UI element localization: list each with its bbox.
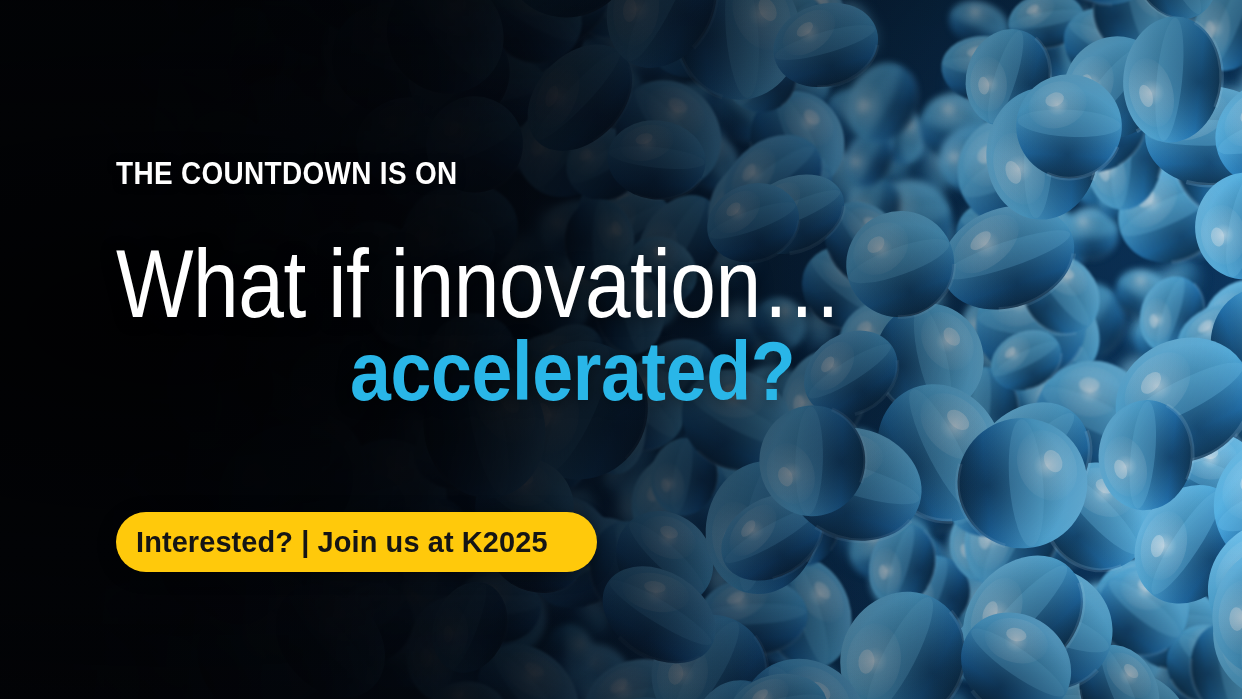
headline-line-primary: What if innovation… [116, 236, 842, 332]
headline-line-accent: accelerated? [350, 329, 795, 413]
promotional-banner: THE COUNTDOWN IS ON What if innovation… … [0, 0, 1242, 699]
cta-button[interactable]: Interested? | Join us at K2025 [116, 512, 597, 572]
eyebrow-text: THE COUNTDOWN IS ON [116, 158, 458, 189]
banner-content: THE COUNTDOWN IS ON What if innovation… … [116, 0, 936, 699]
cta-button-label: Interested? | Join us at K2025 [136, 527, 548, 557]
